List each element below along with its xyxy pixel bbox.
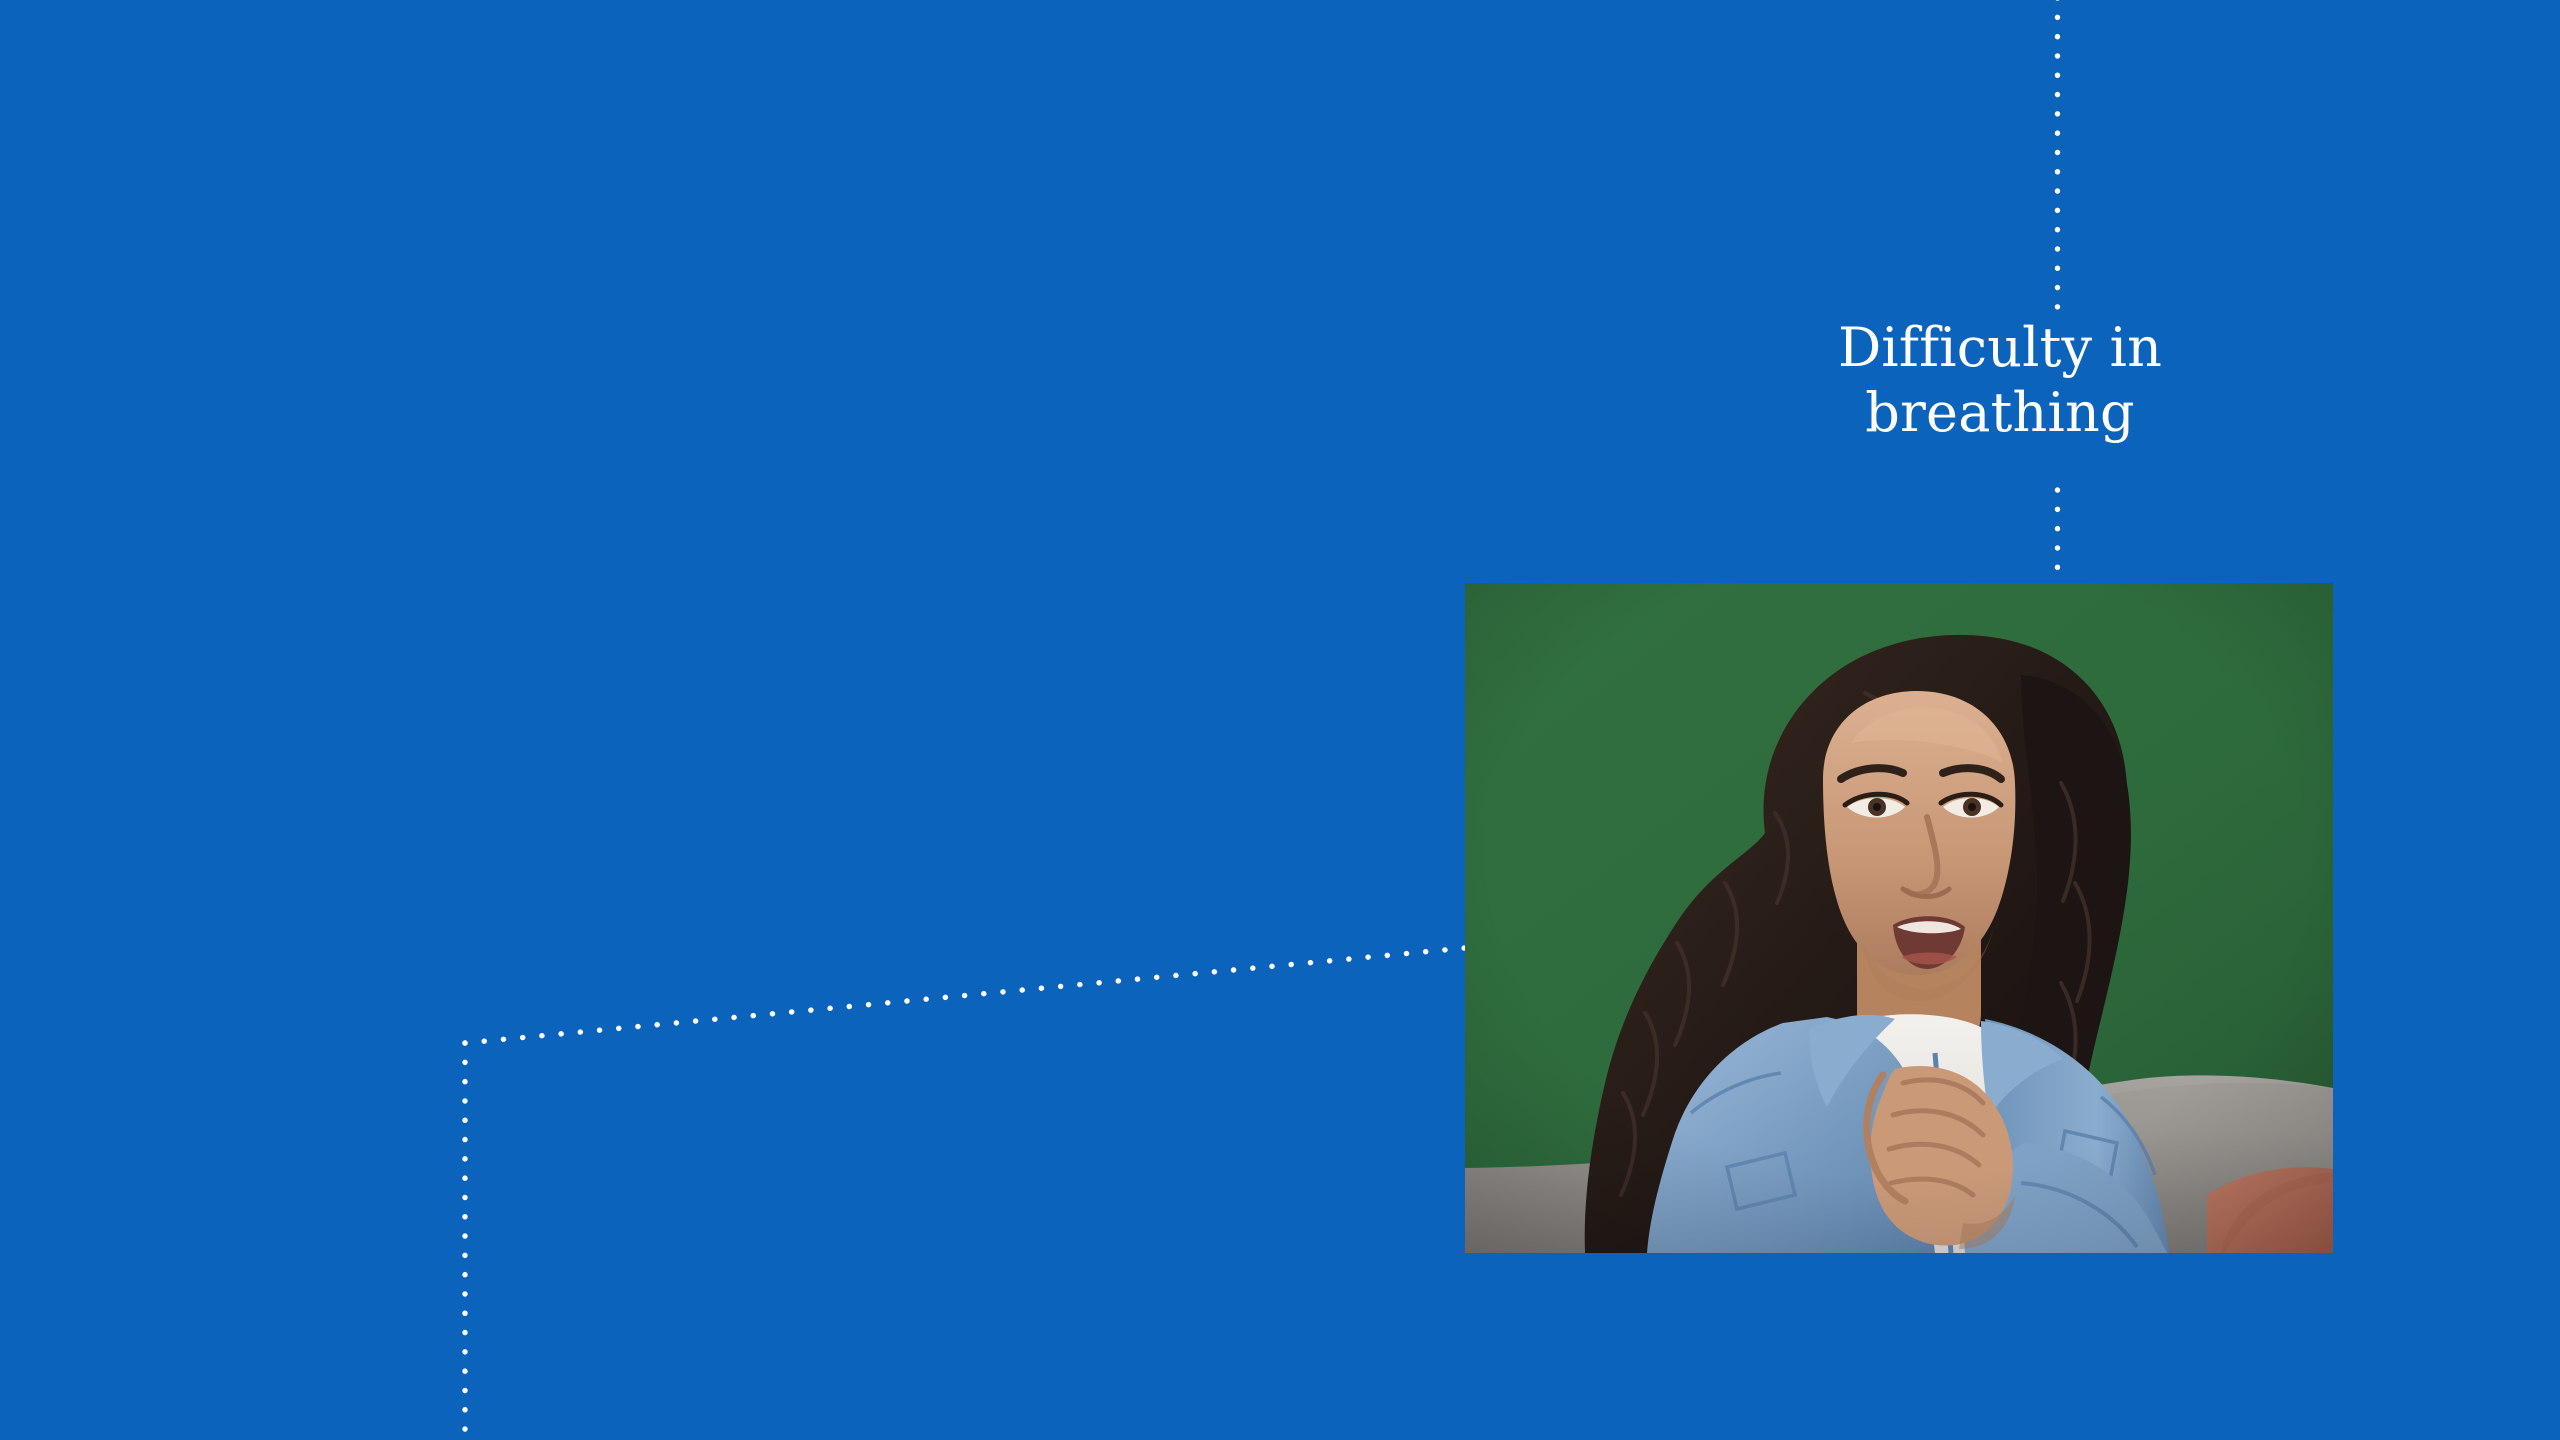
slide-canvas: Difficulty in breathing (0, 0, 2560, 1440)
dotted-elbow-to-photo (450, 930, 1480, 1440)
dotted-line-above-caption (2044, 0, 2072, 322)
page-title: Difficulty in breathing (1760, 316, 2240, 446)
symptom-photo (1465, 583, 2333, 1253)
photo-illustration (1465, 583, 2333, 1253)
dotted-line-below-caption (2044, 486, 2072, 590)
